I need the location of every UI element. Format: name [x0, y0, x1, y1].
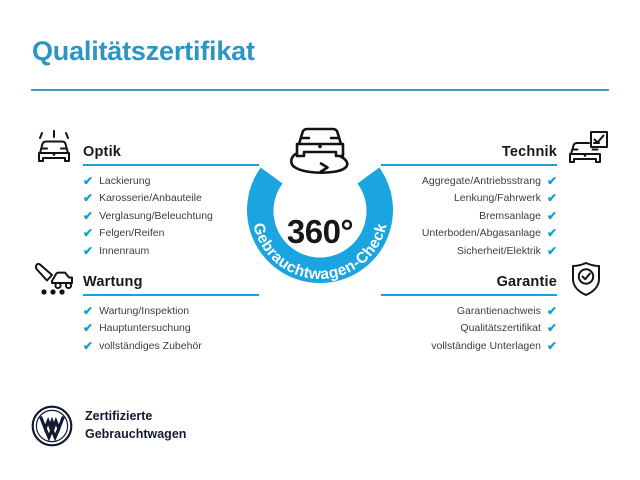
section-optik-list: ✔Lackierung ✔Karosserie/Anbauteile ✔Verg… — [31, 172, 259, 260]
shield-check-icon — [563, 260, 609, 298]
list-item-label: Lackierung — [99, 176, 150, 187]
footer-line-2: Gebrauchtwagen — [85, 426, 186, 444]
check-icon: ✔ — [83, 192, 93, 204]
list-item: Aggregate/Antriebsstrang✔ — [381, 172, 609, 190]
qualitaetszertifikat-page: Qualitätszertifikat Opt — [0, 0, 640, 480]
list-item-label: Sicherheit/Elektrik — [457, 246, 541, 257]
list-item: Lenkung/Fahrwerk✔ — [381, 190, 609, 208]
volkswagen-footer-text: Zertifizierte Gebrauchtwagen — [85, 408, 186, 444]
list-item-label: vollständiges Zubehör — [99, 341, 202, 352]
list-item: vollständige Unterlagen✔ — [381, 337, 609, 355]
check-icon: ✔ — [547, 175, 557, 187]
section-technik-list: Aggregate/Antriebsstrang✔ Lenkung/Fahrwe… — [381, 172, 609, 260]
section-optik: Optik ✔Lackierung ✔Karosserie/Anbauteile… — [31, 132, 259, 260]
check-icon: ✔ — [83, 305, 93, 317]
list-item: Sicherheit/Elektrik✔ — [381, 242, 609, 260]
list-item: ✔Hauptuntersuchung — [31, 320, 259, 338]
check-icon: ✔ — [83, 340, 93, 352]
list-item: Unterboden/Abgasanlage✔ — [381, 225, 609, 243]
list-item-label: Qualitätszertifikat — [460, 323, 541, 334]
car-360-rotation-icon — [280, 121, 360, 183]
section-wartung: Wartung ✔Wartung/Inspektion ✔Hauptunters… — [31, 262, 259, 355]
check-icon: ✔ — [83, 227, 93, 239]
badge-360-gebrauchtwagen-check: Gebrauchtwagen-Check 360° — [228, 119, 412, 303]
section-wartung-header: Wartung — [31, 262, 259, 296]
list-item: Garantienachweis✔ — [381, 302, 609, 320]
check-icon: ✔ — [547, 210, 557, 222]
page-title: Qualitätszertifikat — [32, 36, 255, 67]
section-garantie-header: Garantie — [381, 262, 609, 296]
car-checkbox-icon — [563, 130, 609, 168]
check-icon: ✔ — [547, 305, 557, 317]
list-item-label: Lenkung/Fahrwerk — [454, 193, 541, 204]
list-item: ✔Innenraum — [31, 242, 259, 260]
badge-degrees-label: 360° — [228, 213, 412, 251]
section-garantie: Garantie Garantienachweis✔ Qualitätszert… — [381, 262, 609, 355]
section-optik-title: Optik — [83, 144, 121, 160]
list-item: ✔vollständiges Zubehör — [31, 337, 259, 355]
list-item: ✔Lackierung — [31, 172, 259, 190]
list-item-label: Innenraum — [99, 246, 149, 257]
volkswagen-footer: Zertifizierte Gebrauchtwagen — [31, 405, 186, 447]
list-item-label: Felgen/Reifen — [99, 228, 164, 239]
check-icon: ✔ — [83, 210, 93, 222]
section-technik: Technik Aggregate/Antriebsstrang✔ Lenkun… — [381, 132, 609, 260]
list-item: ✔Felgen/Reifen — [31, 225, 259, 243]
wrench-car-service-icon — [31, 260, 77, 298]
check-icon: ✔ — [83, 175, 93, 187]
section-wartung-title: Wartung — [83, 274, 143, 290]
list-item-label: Karosserie/Anbauteile — [99, 193, 202, 204]
list-item-label: vollständige Unterlagen — [431, 341, 541, 352]
car-shine-icon — [31, 130, 77, 168]
section-garantie-title: Garantie — [497, 274, 557, 290]
check-icon: ✔ — [547, 340, 557, 352]
section-technik-header: Technik — [381, 132, 609, 166]
list-item-label: Wartung/Inspektion — [99, 306, 189, 317]
list-item: ✔Verglasung/Beleuchtung — [31, 207, 259, 225]
check-icon: ✔ — [547, 192, 557, 204]
list-item-label: Aggregate/Antriebsstrang — [422, 176, 541, 187]
list-item-label: Bremsanlage — [479, 211, 541, 222]
list-item-label: Hauptuntersuchung — [99, 323, 191, 334]
list-item: Qualitätszertifikat✔ — [381, 320, 609, 338]
check-icon: ✔ — [547, 227, 557, 239]
footer-line-1: Zertifizierte — [85, 408, 186, 426]
section-wartung-list: ✔Wartung/Inspektion ✔Hauptuntersuchung ✔… — [31, 302, 259, 355]
section-garantie-list: Garantienachweis✔ Qualitätszertifikat✔ v… — [381, 302, 609, 355]
section-optik-header: Optik — [31, 132, 259, 166]
list-item-label: Garantienachweis — [457, 306, 541, 317]
list-item-label: Verglasung/Beleuchtung — [99, 211, 213, 222]
check-icon: ✔ — [547, 322, 557, 334]
check-icon: ✔ — [547, 245, 557, 257]
list-item: Bremsanlage✔ — [381, 207, 609, 225]
list-item-label: Unterboden/Abgasanlage — [422, 228, 541, 239]
check-icon: ✔ — [83, 245, 93, 257]
check-icon: ✔ — [83, 322, 93, 334]
title-divider — [31, 89, 609, 91]
section-technik-title: Technik — [502, 144, 557, 160]
volkswagen-logo — [31, 405, 73, 447]
list-item: ✔Karosserie/Anbauteile — [31, 190, 259, 208]
list-item: ✔Wartung/Inspektion — [31, 302, 259, 320]
